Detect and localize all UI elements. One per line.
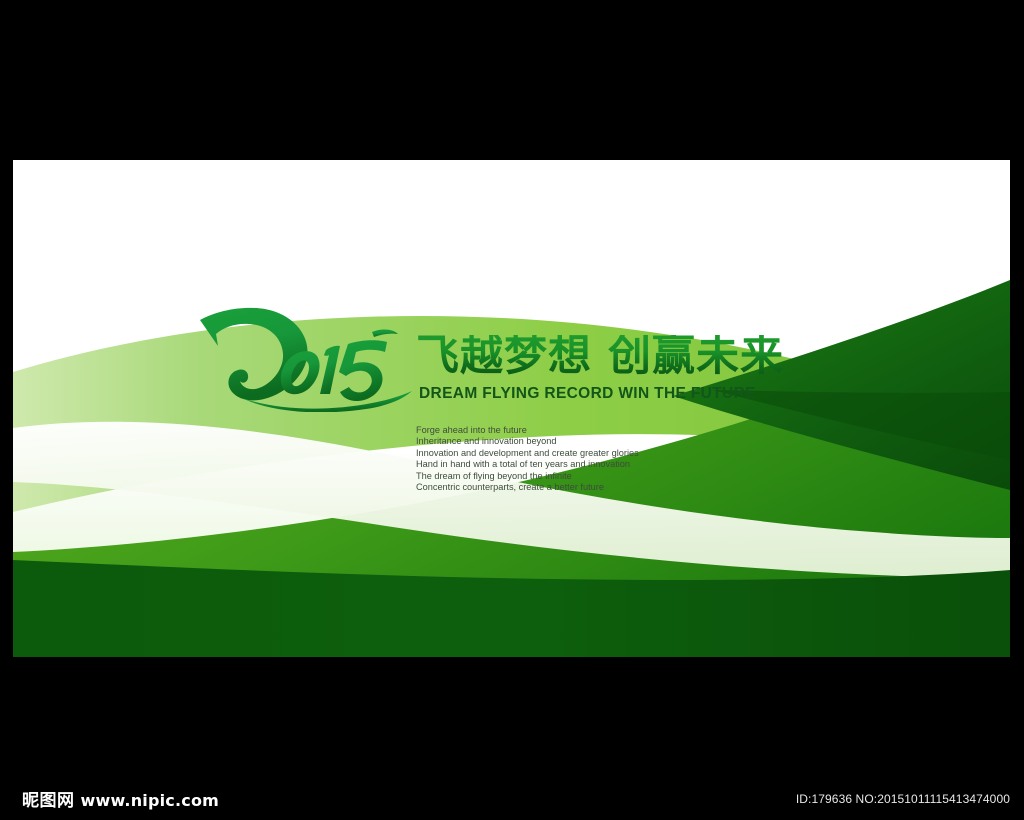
- poster-artboard: 飞越梦想 创赢未来 DREAM FLYING RECORD WIN THE FU…: [13, 160, 1010, 657]
- screenshot-canvas: 飞越梦想 创赢未来 DREAM FLYING RECORD WIN THE FU…: [0, 0, 1024, 820]
- site-watermark: 昵图网 www.nipic.com: [22, 786, 219, 811]
- green-wave-graphic: [13, 160, 1010, 657]
- watermark-url: www.nipic.com: [81, 791, 220, 810]
- watermark-chinese-name: 昵图网: [22, 786, 75, 811]
- asset-id-label: ID:179636 NO:20151011115413474000: [796, 792, 1010, 806]
